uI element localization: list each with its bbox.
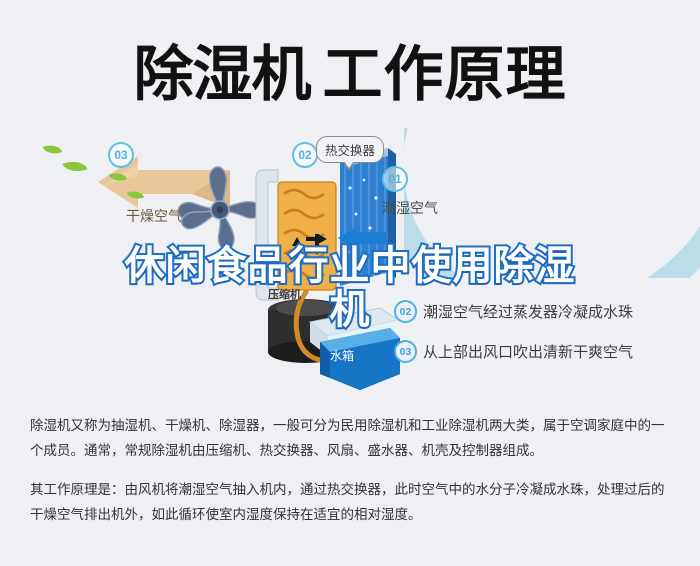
list-item: 02 潮湿空气经过蒸发器冷凝成水珠 <box>394 300 694 323</box>
badge-02: 02 <box>292 142 318 168</box>
label-compressor: 压缩机 <box>268 286 301 302</box>
page-title: 除湿机工作原理 <box>0 26 700 112</box>
paragraph-1: 除湿机又称为抽湿机、干燥机、除湿器，一般可分为民用除湿机和工业除湿机两大类，属于… <box>30 414 675 464</box>
steps-list: 02 潮湿空气经过蒸发器冷凝成水珠 03 从上部出风口吹出清新干爽空气 <box>394 300 694 380</box>
paragraph-2: 其工作原理是：由风机将潮湿空气抽入机内，通过热交换器，此时空气中的水分子冷凝成水… <box>30 478 675 528</box>
leaf-icon <box>64 160 86 173</box>
title-part-2: 工作原理 <box>323 40 567 110</box>
step-text-03: 从上部出风口吹出清新干爽空气 <box>423 341 633 362</box>
leaf-icon <box>44 144 61 155</box>
body-copy: 除湿机又称为抽湿机、干燥机、除湿器，一般可分为民用除湿机和工业除湿机两大类，属于… <box>30 414 675 542</box>
callout-heat-exchanger: 热交换器 <box>316 136 384 163</box>
badge-01: 01 <box>382 166 408 192</box>
list-item: 03 从上部出风口吹出清新干爽空气 <box>394 340 694 363</box>
step-badge-02: 02 <box>394 300 417 323</box>
humid-air-swoosh-icon <box>404 128 700 278</box>
poster-root: 除湿机工作原理 <box>0 0 700 566</box>
title-text: 除湿机工作原理 <box>134 26 567 113</box>
label-dry-air: 干燥空气 <box>126 206 182 226</box>
leaf-icon <box>110 172 126 182</box>
badge-03: 03 <box>108 142 134 168</box>
leaf-icon <box>128 190 143 200</box>
step-text-02: 潮湿空气经过蒸发器冷凝成水珠 <box>423 301 633 322</box>
label-water-tank: 水箱 <box>330 347 354 364</box>
title-part-1: 除湿机 <box>134 40 311 110</box>
label-humid-air: 潮湿空气 <box>382 198 438 218</box>
inflow-arrow-icon <box>338 227 386 249</box>
step-badge-03: 03 <box>394 340 417 363</box>
